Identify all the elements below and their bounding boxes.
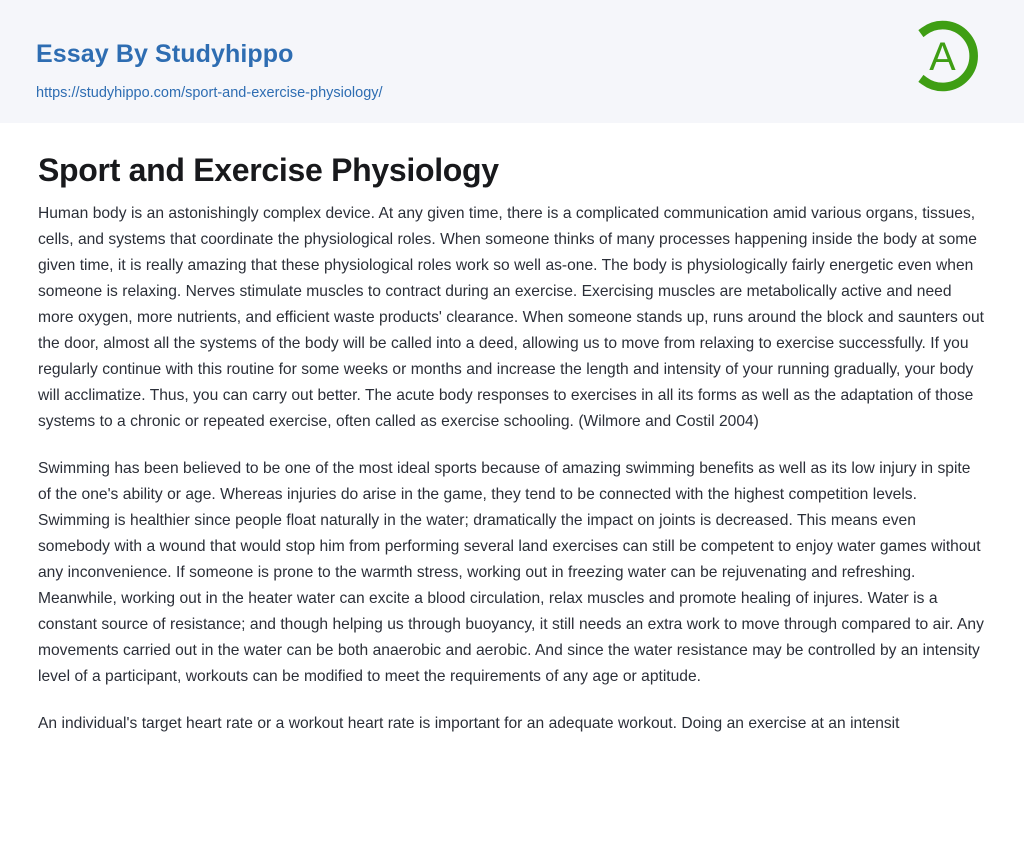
source-url-link[interactable]: https://studyhippo.com/sport-and-exercis… xyxy=(36,84,383,103)
header-inner: Essay By Studyhippo https://studyhippo.c… xyxy=(36,0,988,123)
site-header: Essay By Studyhippo https://studyhippo.c… xyxy=(0,0,1024,123)
paragraph: Swimming has been believed to be one of … xyxy=(38,456,986,690)
paragraph: Human body is an astonishingly complex d… xyxy=(38,201,986,435)
paragraph: An individual's target heart rate or a w… xyxy=(38,711,986,737)
brand-title: Essay By Studyhippo xyxy=(36,40,294,69)
page-title: Sport and Exercise Physiology xyxy=(38,123,986,190)
article: Sport and Exercise Physiology Human body… xyxy=(0,123,1024,737)
article-body: Human body is an astonishingly complex d… xyxy=(38,190,986,737)
logo-letter: A xyxy=(929,35,956,79)
circled-a-logo-icon: A xyxy=(902,13,988,99)
